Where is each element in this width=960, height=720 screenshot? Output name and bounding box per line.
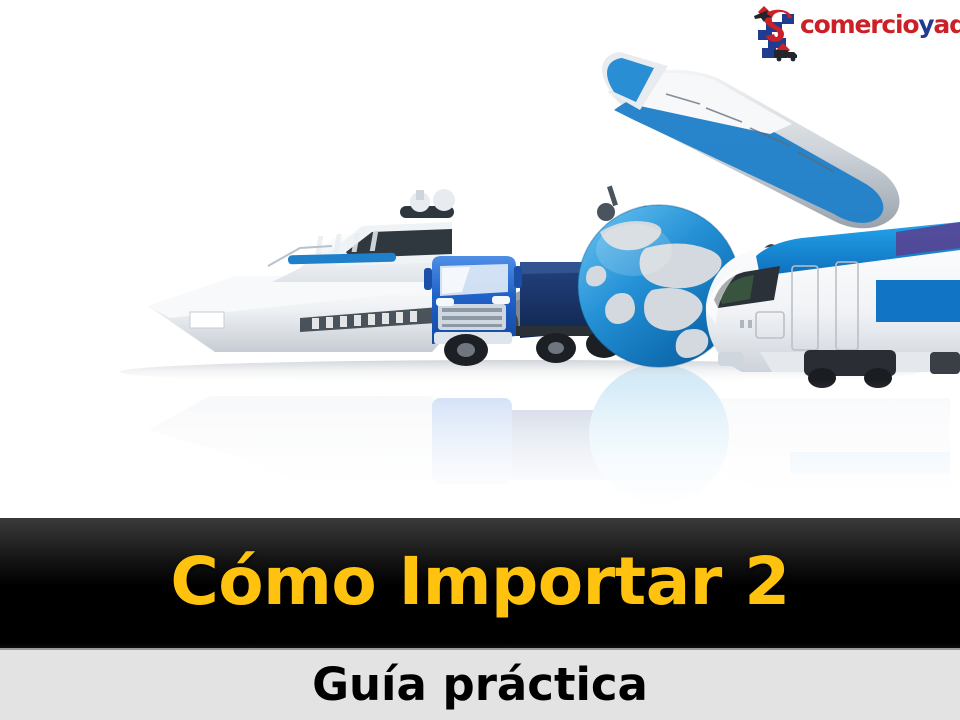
transport-montage	[0, 0, 960, 518]
logo-word-comercio: comercio	[800, 10, 918, 39]
slide: comercioyaduanas .com.mx Cómo Importar 2…	[0, 0, 960, 720]
title-bar: Cómo Importar 2	[0, 518, 960, 648]
subtitle-bar: Guía práctica	[0, 648, 960, 720]
logo-word-y: y	[918, 10, 933, 39]
comercioyaduanas-logo[interactable]: comercioyaduanas .com.mx	[752, 6, 952, 64]
page-title: Cómo Importar 2	[170, 549, 789, 615]
page-subtitle: Guía práctica	[312, 662, 648, 707]
logo-mark	[752, 6, 804, 62]
truck-icon	[774, 50, 797, 61]
logo-word-aduanas: aduanas	[933, 10, 960, 39]
logo-word-row: comercioyaduanas	[800, 12, 960, 37]
logo-wordmark: comercioyaduanas .com.mx	[800, 6, 960, 48]
